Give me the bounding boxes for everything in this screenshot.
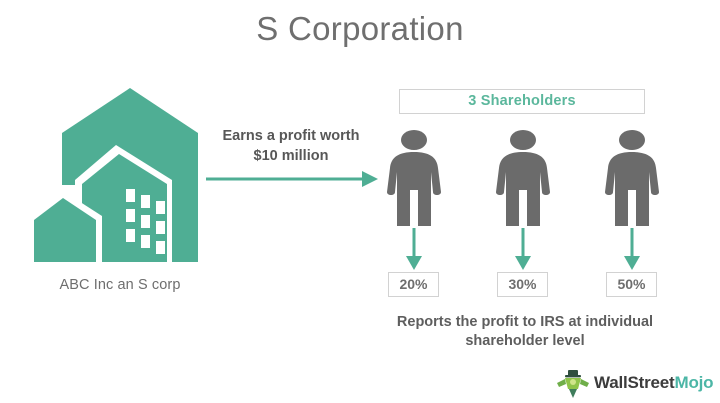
profit-text-line2: $10 million — [196, 146, 386, 166]
company-group: ABC Inc an S corp — [20, 85, 220, 300]
shareholder-person-3 — [599, 130, 665, 226]
shareholder-person-2 — [490, 130, 556, 226]
shareholders-header-box: 3 Shareholders — [399, 89, 645, 114]
person-icon — [381, 130, 447, 226]
down-arrow-icon — [403, 228, 425, 270]
shareholder-person-1 — [381, 130, 447, 226]
shareholders-header-label: 3 Shareholders — [400, 90, 644, 113]
ownership-percent-row: 20% 30% 50% — [381, 272, 665, 298]
profit-flow-group: Earns a profit worth $10 million — [196, 126, 386, 196]
ownership-percent-2: 30% — [497, 272, 548, 297]
report-caption-line1: Reports the profit to IRS at individual — [397, 314, 653, 330]
report-caption-line2: shareholder level — [365, 332, 685, 351]
brand-name: WallStreetMojo — [594, 373, 713, 393]
brand-name-primary: WallStreet — [594, 373, 675, 392]
s-corporation-infographic: S Corporation — [0, 0, 720, 403]
profit-text-line1: Earns a profit worth — [223, 128, 360, 144]
person-icon — [490, 130, 556, 226]
shareholder-people-row — [381, 130, 665, 226]
down-arrow-icon — [621, 228, 643, 270]
allocation-arrows-row — [381, 228, 665, 270]
person-icon — [599, 130, 665, 226]
ownership-percent-3: 50% — [606, 272, 657, 297]
down-arrow-icon — [512, 228, 534, 270]
office-buildings-icon — [20, 85, 210, 265]
brand-name-accent: Mojo — [675, 373, 714, 392]
wallstreetmojo-mascot-icon — [556, 369, 590, 399]
ownership-percent-1: 20% — [388, 272, 439, 297]
wallstreetmojo-logo: WallStreetMojo — [556, 369, 706, 399]
report-caption: Reports the profit to IRS at individual … — [365, 313, 685, 351]
right-arrow-icon — [206, 170, 378, 188]
company-label: ABC Inc an S corp — [20, 277, 220, 293]
profit-text: Earns a profit worth $10 million — [196, 126, 386, 166]
page-title: S Corporation — [0, 10, 720, 48]
